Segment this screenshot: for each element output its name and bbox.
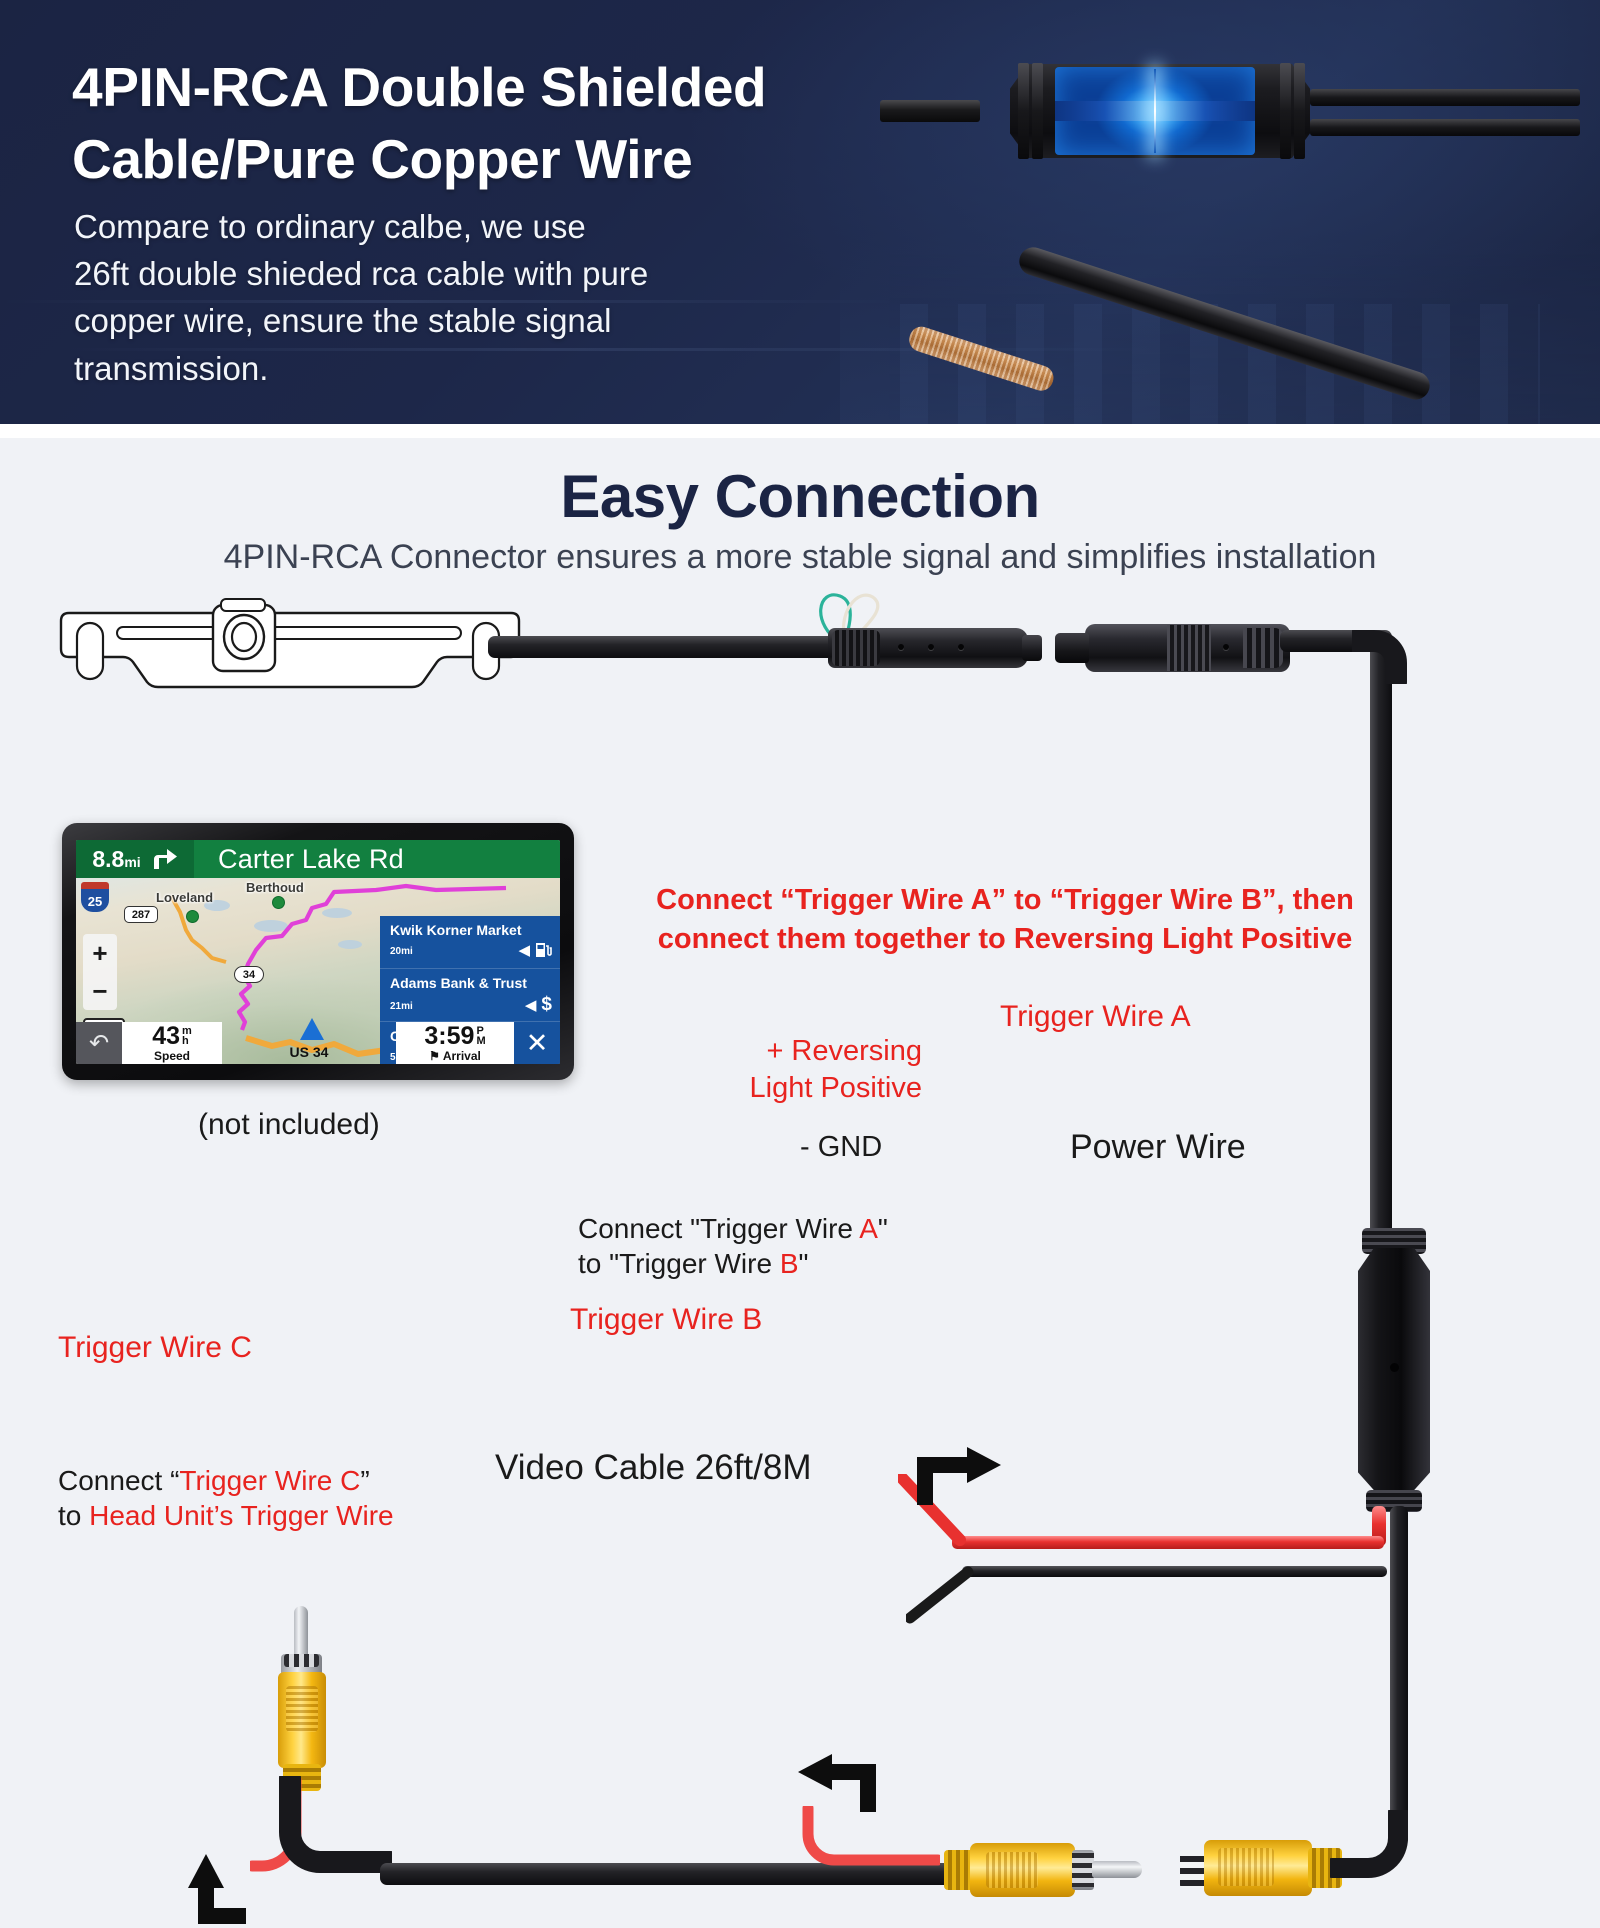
arrival-label: Arrival bbox=[443, 1049, 481, 1063]
connect-ab-text-3: to "Trigger Wire bbox=[578, 1248, 780, 1279]
connector-dot bbox=[898, 644, 904, 650]
video-cable-corner-left bbox=[272, 1776, 392, 1886]
gps-screen[interactable]: 8.8mi Carter Lake Rd bbox=[76, 840, 560, 1064]
connect-c-text-2: ” bbox=[360, 1465, 369, 1496]
connector-ring bbox=[1018, 63, 1029, 159]
connect-c-red-2: Head Unit’s Trigger Wire bbox=[89, 1500, 393, 1531]
zoom-out-button[interactable]: − bbox=[83, 972, 117, 1010]
connect-c-text-3: to bbox=[58, 1500, 89, 1531]
video-cable-down bbox=[1390, 1506, 1408, 1846]
connector-ring bbox=[1294, 63, 1305, 159]
gps-head-unit[interactable]: 8.8mi Carter Lake Rd bbox=[62, 823, 574, 1080]
blue-tech-glow bbox=[1055, 67, 1255, 155]
rca-barrel bbox=[970, 1843, 1075, 1897]
connector-dot bbox=[1223, 644, 1229, 650]
connector-ring bbox=[1032, 63, 1043, 159]
connect-ab-b: B bbox=[780, 1248, 799, 1279]
trigger-wire-a-label: Trigger Wire A bbox=[1000, 1000, 1191, 1034]
wire-jacket bbox=[1016, 244, 1434, 404]
note-line-1: Connect “Trigger Wire A” to “Trigger Wir… bbox=[656, 884, 1354, 916]
zoom-in-button[interactable]: + bbox=[83, 934, 117, 972]
gps-bottom-bar: ↶ 43mh Speed US 34 3:59PM ⚑ Arrival ✕ bbox=[76, 1022, 560, 1064]
inline-connector-photo bbox=[950, 45, 1370, 180]
connect-c-instruction: Connect “Trigger Wire C” to Head Unit’s … bbox=[58, 1463, 394, 1534]
gps-distance-value: 8.8 bbox=[92, 846, 124, 872]
connector-ribs bbox=[1167, 625, 1211, 671]
map-zoom-controls[interactable]: + − bbox=[83, 934, 117, 1010]
poi-unit: mi bbox=[401, 1001, 413, 1012]
gps-speed-widget: 43mh Speed bbox=[122, 1022, 222, 1064]
extension-cable-vertical bbox=[1370, 638, 1392, 1258]
poi-distance: 21 bbox=[390, 1001, 401, 1012]
left-chevron-icon: ◀ bbox=[518, 941, 530, 959]
trigger-wire-b-label: Trigger Wire B bbox=[570, 1303, 762, 1337]
poi-distance: 20 bbox=[390, 946, 401, 957]
map-city-label-loveland: Loveland bbox=[156, 890, 213, 905]
connect-c-red-1: Trigger Wire C bbox=[179, 1465, 360, 1496]
license-plate-camera-outline bbox=[55, 593, 525, 703]
reversing-positive-wire bbox=[952, 1536, 1384, 1549]
gps-back-button[interactable]: ↶ bbox=[76, 1022, 122, 1064]
copper-wire-photo bbox=[900, 225, 1460, 395]
route-shield-34: 34 bbox=[234, 966, 264, 983]
hero-description: Compare to ordinary calbe, we use 26ft d… bbox=[74, 203, 774, 392]
connector-dot bbox=[958, 644, 964, 650]
4pin-female-connector bbox=[1085, 624, 1290, 672]
connect-ab-a: A bbox=[859, 1213, 878, 1244]
poi-item[interactable]: Kwik Korner Market 20mi ◀ bbox=[380, 916, 560, 969]
cable-right-upper bbox=[1310, 89, 1580, 106]
gps-arrival-widget: 3:59PM ⚑ Arrival bbox=[396, 1022, 514, 1064]
arrival-time: 3:59 bbox=[424, 1024, 474, 1049]
connect-c-text-1: Connect “ bbox=[58, 1465, 179, 1496]
cable-left bbox=[880, 100, 980, 122]
trigger-a-arrow-icon bbox=[915, 1443, 1005, 1513]
camera-lead-cable bbox=[488, 636, 840, 658]
connect-ab-text-1: Connect "Trigger Wire bbox=[578, 1213, 859, 1244]
arrival-ampm-bottom: M bbox=[476, 1035, 485, 1047]
gps-close-button[interactable]: ✕ bbox=[514, 1022, 560, 1064]
junction-box-dot bbox=[1390, 1363, 1399, 1372]
reversing-light-positive-label: + Reversing Light Positive bbox=[722, 1033, 922, 1107]
gps-distance-unit: mi bbox=[124, 854, 140, 870]
gnd-label: - GND bbox=[800, 1131, 882, 1164]
rca-ground-collar bbox=[1072, 1850, 1094, 1890]
connection-diagram-section: Easy Connection 4PIN-RCA Connector ensur… bbox=[0, 438, 1600, 1600]
hero-title: 4PIN-RCA Double Shielded Cable/Pure Copp… bbox=[72, 52, 902, 195]
rca-barrel bbox=[278, 1672, 326, 1768]
left-chevron-icon: ◀ bbox=[525, 996, 537, 1014]
poi-item[interactable]: Adams Bank & Trust 21mi ◀ $ bbox=[380, 969, 560, 1022]
trigger-c-arrow-icon bbox=[168, 1838, 258, 1928]
speed-label: Speed bbox=[154, 1049, 190, 1063]
trigger-b-red-wire bbox=[800, 1806, 940, 1876]
flag-icon: ⚑ bbox=[429, 1049, 440, 1063]
poi-name: Kwik Korner Market bbox=[390, 921, 552, 940]
speed-unit-bottom: h bbox=[182, 1035, 189, 1047]
poi-icons: ◀ $ bbox=[525, 994, 552, 1016]
rca-barrel bbox=[1204, 1840, 1312, 1896]
route-shield-287: 287 bbox=[124, 906, 158, 923]
poi-unit: mi bbox=[401, 946, 413, 957]
video-cable-label: Video Cable 26ft/8M bbox=[495, 1448, 812, 1488]
not-included-label: (not included) bbox=[198, 1108, 380, 1142]
cable-corner-bend bbox=[1352, 624, 1412, 684]
gps-distance-box: 8.8mi bbox=[76, 840, 194, 878]
section-divider bbox=[0, 424, 1600, 438]
gps-current-road: US 34 bbox=[222, 1022, 396, 1064]
gnd-wire-diagonal bbox=[906, 1560, 976, 1630]
connect-ab-text-2: " bbox=[878, 1213, 888, 1244]
section-title: Easy Connection bbox=[0, 462, 1600, 531]
interstate-shield: 25 bbox=[81, 882, 109, 912]
gps-navigation-bar: 8.8mi Carter Lake Rd bbox=[76, 840, 560, 878]
poi-icons: ◀ bbox=[518, 941, 552, 959]
dollar-icon: $ bbox=[541, 994, 552, 1016]
copper-strands bbox=[906, 324, 1056, 394]
connector-grip bbox=[832, 630, 880, 666]
gnd-wire bbox=[962, 1566, 1387, 1577]
cable-right-lower bbox=[1310, 119, 1580, 136]
note-line-2: connect them together to Reversing Light… bbox=[658, 923, 1353, 955]
poi-name: Adams Bank & Trust bbox=[390, 974, 552, 993]
connector-ribs bbox=[1243, 628, 1283, 668]
junction-control-box bbox=[1358, 1248, 1430, 1503]
section-subtitle: 4PIN-RCA Connector ensures a more stable… bbox=[0, 538, 1600, 577]
4pin-male-connector bbox=[828, 628, 1028, 668]
rca-male-plug-vertical bbox=[272, 1606, 332, 1791]
connect-ab-text-4: " bbox=[799, 1248, 809, 1279]
connect-a-to-b-instruction: Connect "Trigger Wire A" to "Trigger Wir… bbox=[578, 1211, 888, 1282]
gps-street-name: Carter Lake Rd bbox=[194, 844, 404, 875]
turn-right-icon bbox=[150, 847, 178, 871]
map-city-label-berthoud: Berthoud bbox=[246, 880, 304, 895]
speed-value: 43 bbox=[152, 1024, 180, 1049]
map-city-dot bbox=[272, 896, 285, 909]
rca-male-plug-cable-end bbox=[944, 1838, 1144, 1902]
gps-map-view[interactable]: 25 287 34 Loveland Berthoud + − LIMIT 45 bbox=[76, 878, 560, 1064]
gas-pump-icon bbox=[535, 941, 552, 958]
power-wire-label: Power Wire bbox=[1070, 1128, 1246, 1167]
wiring-instruction-note: Connect “Trigger Wire A” to “Trigger Wir… bbox=[655, 881, 1355, 958]
connector-dot bbox=[928, 644, 934, 650]
video-cable-corner-right bbox=[1330, 1810, 1420, 1890]
hero-banner: 4PIN-RCA Double Shielded Cable/Pure Copp… bbox=[0, 0, 1600, 424]
connector-ring bbox=[1280, 63, 1291, 159]
map-city-dot bbox=[186, 910, 199, 923]
trigger-wire-c-label: Trigger Wire C bbox=[58, 1331, 252, 1365]
rca-center-pin bbox=[1092, 1861, 1142, 1878]
